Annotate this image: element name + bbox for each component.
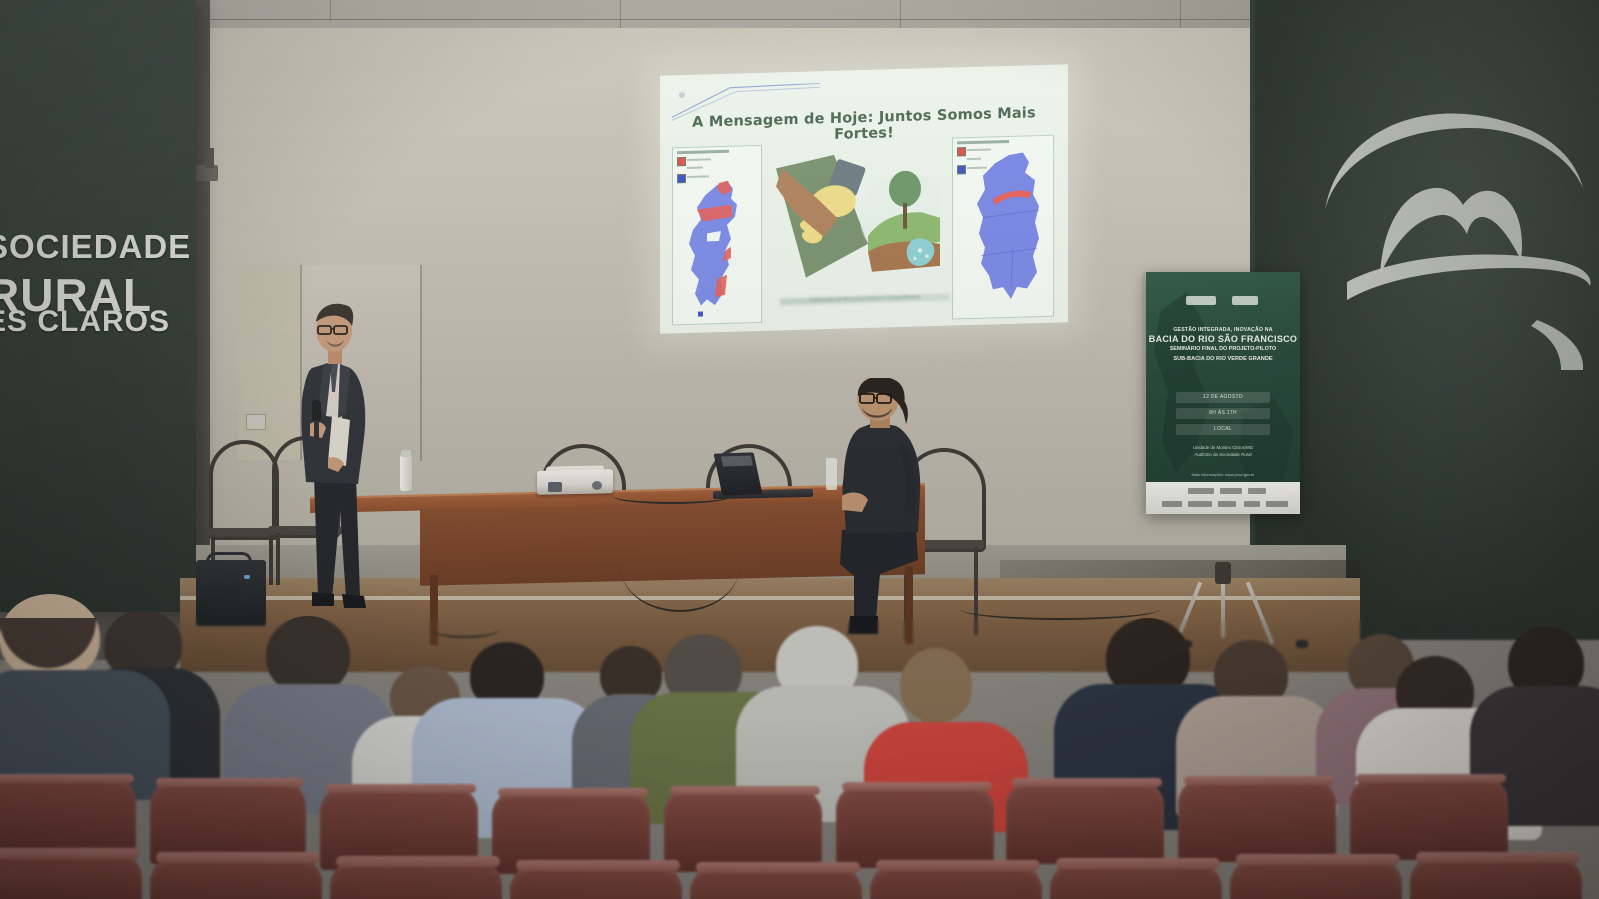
projector-lens — [548, 482, 562, 492]
audience-chair — [1350, 776, 1508, 860]
audience-chair-top — [156, 778, 304, 787]
cowboy-hat-logo — [1285, 70, 1595, 370]
banner-line-3: ES CLAROS — [0, 305, 170, 339]
banner-logo-2 — [1232, 296, 1258, 305]
sponsor-logo-6 — [1218, 501, 1236, 507]
banner-sponsor-strip — [1146, 482, 1300, 514]
audience-chair-front — [0, 852, 142, 899]
audience-chair-front-top — [696, 862, 860, 873]
sponsor-logo-3 — [1248, 488, 1266, 494]
wall-outlet — [246, 414, 266, 430]
audience-chair-top — [1184, 776, 1334, 785]
audience-chair-front-top — [156, 852, 320, 863]
laptop-screen-glare — [721, 455, 753, 466]
auditorium-photo-scene: SOCIEDADE RURAL ES CLAROS A Mensagem de … — [0, 0, 1599, 899]
audience-chair-front-top — [0, 848, 140, 859]
door-edge — [420, 265, 422, 461]
map-right-basin — [952, 135, 1054, 320]
audience-chair-front-top — [1056, 858, 1220, 869]
audience-chair-top — [842, 782, 992, 791]
banner-line-1: SOCIEDADE — [0, 228, 191, 266]
event-rollup-banner: GESTÃO INTEGRADA, INOVAÇÃO NA BACIA DO R… — [1146, 272, 1300, 514]
sponsor-logo-1 — [1188, 488, 1214, 494]
audience-chair-top — [1012, 778, 1162, 787]
sponsor-logo-5 — [1188, 501, 1212, 507]
audience-chair-top — [670, 786, 820, 795]
standing-presenter — [288, 296, 392, 626]
sponsor-logo-8 — [1266, 501, 1288, 507]
audience-chair-front-top — [876, 860, 1040, 871]
map-left-basin — [672, 145, 762, 326]
banner-chip-time: 8H ÀS 17H — [1176, 408, 1270, 419]
audience-chair-front-top — [336, 856, 500, 867]
audience-chair — [664, 788, 822, 872]
sociedade-rural-banner: SOCIEDADE RURAL ES CLAROS — [0, 0, 196, 612]
attendee-head-3 — [266, 616, 350, 694]
banner-address-line-2: Auditório da Sociedade Rural — [1194, 452, 1251, 457]
map-left-shape — [673, 146, 761, 324]
seated-audience — [0, 580, 1599, 899]
banner-logo-1 — [1186, 296, 1216, 305]
map-right-shape — [953, 136, 1053, 319]
wall-bracket — [206, 148, 214, 168]
slide-caption: Elaboração de Recursos Hídricos Comparti… — [780, 294, 950, 306]
water-bottle — [400, 455, 412, 491]
projector-focus-ring — [592, 481, 602, 490]
banner-address-line-1: Unidade de Montes Claros/MG — [1193, 445, 1253, 450]
sponsor-logo-2 — [1220, 488, 1242, 494]
audience-chair — [836, 784, 994, 868]
banner-subtitle: SEMINÁRIO FINAL DO PROJETO-PILOTO — [1146, 346, 1300, 352]
handshake-sustainability-illustration — [772, 146, 942, 291]
banner-chip-date: 12 DE AGOSTO — [1176, 392, 1270, 403]
audience-chair — [1178, 778, 1336, 862]
amp-led-icon — [244, 575, 250, 579]
banner-website: Mais informações: www.prod.gov.br — [1146, 472, 1300, 477]
audience-chair-front-top — [1416, 852, 1580, 863]
cable-1 — [612, 488, 732, 504]
audience-chair — [1006, 780, 1164, 864]
water-bottle-cap — [401, 450, 411, 457]
sponsor-logo-4 — [1162, 501, 1182, 507]
banner-title: BACIA DO RIO SÃO FRANCISCO — [1146, 334, 1300, 344]
audience-chair-top — [498, 788, 648, 797]
banner-eyebrow: GESTÃO INTEGRADA, INOVAÇÃO NA — [1146, 327, 1300, 333]
audience-chair-top — [1356, 774, 1506, 783]
banner-chip-location: LOCAL — [1176, 424, 1270, 435]
audience-chair-front-top — [1236, 854, 1400, 865]
banner-highlight: SUB-BACIA DO RIO VERDE GRANDE — [1146, 356, 1300, 362]
sponsor-logo-7 — [1244, 501, 1260, 507]
audience-chair-top — [0, 774, 134, 783]
audience-chair-front-top — [516, 860, 680, 871]
audience-chair-top — [326, 784, 476, 793]
projection-screen: A Mensagem de Hoje: Juntos Somos Mais Fo… — [660, 64, 1068, 333]
banner-address: Unidade de Montes Claros/MG Auditório da… — [1146, 444, 1300, 458]
